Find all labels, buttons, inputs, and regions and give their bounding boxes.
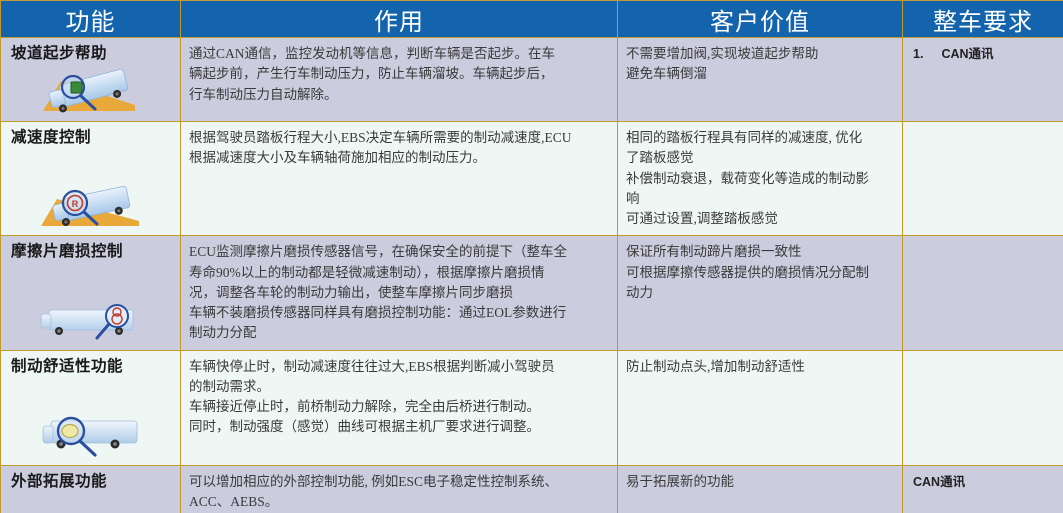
requirement-text: CAN通讯	[941, 45, 993, 64]
header-row: 功能 作用 客户价值 整车要求	[1, 1, 1063, 38]
header-function: 功能	[1, 1, 181, 38]
table-body: 坡道起步帮助	[1, 38, 1063, 513]
role-cell: 根据驾驶员踏板行程大小,EBS决定车辆所需要的制动减速度,ECU 根据减速度大小…	[181, 122, 618, 236]
truck-with-brake-pad-magnifier-icon	[35, 296, 153, 344]
header-customer-value: 客户价值	[618, 1, 903, 38]
role-text: 可以增加相应的外部控制功能, 例如ESC电子稳定性控制系统、 ACC、AEBS。	[189, 472, 609, 513]
requirement-cell	[903, 236, 1063, 350]
function-title: 减速度控制	[11, 129, 176, 148]
role-text: 根据驾驶员踏板行程大小,EBS决定车辆所需要的制动减速度,ECU 根据减速度大小…	[189, 128, 609, 169]
function-title: 外部拓展功能	[11, 473, 176, 492]
function-cell: 外部拓展功能	[1, 465, 181, 513]
function-cell: 减速度控制	[1, 122, 181, 236]
truck-on-slope-with-magnifier-icon	[35, 67, 153, 115]
role-text: ECU监测摩擦片磨损传感器信号，在确保安全的前提下（整车全 寿命90%以上的制动…	[189, 242, 609, 343]
requirement-cell	[903, 122, 1063, 236]
requirement-cell	[903, 350, 1063, 465]
header-vehicle-requirement: 整车要求	[903, 1, 1063, 38]
requirement-cell: 1. CAN通讯	[903, 38, 1063, 122]
customer-value-cell: 不需要增加阀,实现坡道起步帮助 避免车辆倒溜	[618, 38, 903, 122]
table-row: 制动舒适性功能	[1, 350, 1063, 465]
function-title: 摩擦片磨损控制	[11, 243, 176, 262]
truck-on-slope-with-retarder-magnifier-icon: R	[35, 181, 153, 229]
customer-value-text: 易于拓展新的功能	[626, 472, 894, 492]
customer-value-text: 保证所有制动蹄片磨损一致性 可根据摩擦传感器提供的磨损情况分配制 动力	[626, 242, 894, 303]
role-cell: 车辆快停止时，制动减速度往往过大,EBS根据判断减小驾驶员 的制动需求。 车辆接…	[181, 350, 618, 465]
requirement-cell: CAN通讯	[903, 465, 1063, 513]
role-cell: 通过CAN通信，监控发动机等信息，判断车辆是否起步。在车 辆起步前，产生行车制动…	[181, 38, 618, 122]
table-row: 外部拓展功能 可以增加相应的外部控制功能, 例如ESC电子稳定性控制系统、 AC…	[1, 465, 1063, 513]
role-text: 车辆快停止时，制动减速度往往过大,EBS根据判断减小驾驶员 的制动需求。 车辆接…	[189, 357, 609, 438]
customer-value-cell: 保证所有制动蹄片磨损一致性 可根据摩擦传感器提供的磨损情况分配制 动力	[618, 236, 903, 350]
customer-value-cell: 易于拓展新的功能	[618, 465, 903, 513]
role-cell: 可以增加相应的外部控制功能, 例如ESC电子稳定性控制系统、 ACC、AEBS。	[181, 465, 618, 513]
function-cell: 坡道起步帮助	[1, 38, 181, 122]
table-row: 摩擦片磨损控制	[1, 236, 1063, 350]
customer-value-cell: 相同的踏板行程具有同样的减速度, 优化 了踏板感觉 补偿制动衰退，载荷变化等造成…	[618, 122, 903, 236]
function-cell: 摩擦片磨损控制	[1, 236, 181, 350]
table-row: 坡道起步帮助	[1, 38, 1063, 122]
svg-text:R: R	[72, 199, 79, 209]
truck-with-comfort-magnifier-icon	[35, 411, 153, 459]
table-row: 减速度控制	[1, 122, 1063, 236]
customer-value-text: 防止制动点头,增加制动舒适性	[626, 357, 894, 377]
customer-value-text: 相同的踏板行程具有同样的减速度, 优化 了踏板感觉 补偿制动衰退，载荷变化等造成…	[626, 128, 894, 229]
feature-table: 功能 作用 客户价值 整车要求 坡道起步帮助	[0, 0, 1063, 513]
role-text: 通过CAN通信，监控发动机等信息，判断车辆是否起步。在车 辆起步前，产生行车制动…	[189, 44, 609, 105]
role-cell: ECU监测摩擦片磨损传感器信号，在确保安全的前提下（整车全 寿命90%以上的制动…	[181, 236, 618, 350]
table-header: 功能 作用 客户价值 整车要求	[1, 1, 1063, 38]
slide-canvas: 功能 作用 客户价值 整车要求 坡道起步帮助	[0, 0, 1063, 513]
function-title: 坡道起步帮助	[11, 45, 176, 64]
function-title: 制动舒适性功能	[11, 358, 176, 377]
function-cell: 制动舒适性功能	[1, 350, 181, 465]
customer-value-text: 不需要增加阀,实现坡道起步帮助 避免车辆倒溜	[626, 44, 894, 85]
header-role: 作用	[181, 1, 618, 38]
customer-value-cell: 防止制动点头,增加制动舒适性	[618, 350, 903, 465]
requirement-number: 1.	[913, 45, 923, 64]
requirement-text: CAN通讯	[913, 473, 1055, 492]
